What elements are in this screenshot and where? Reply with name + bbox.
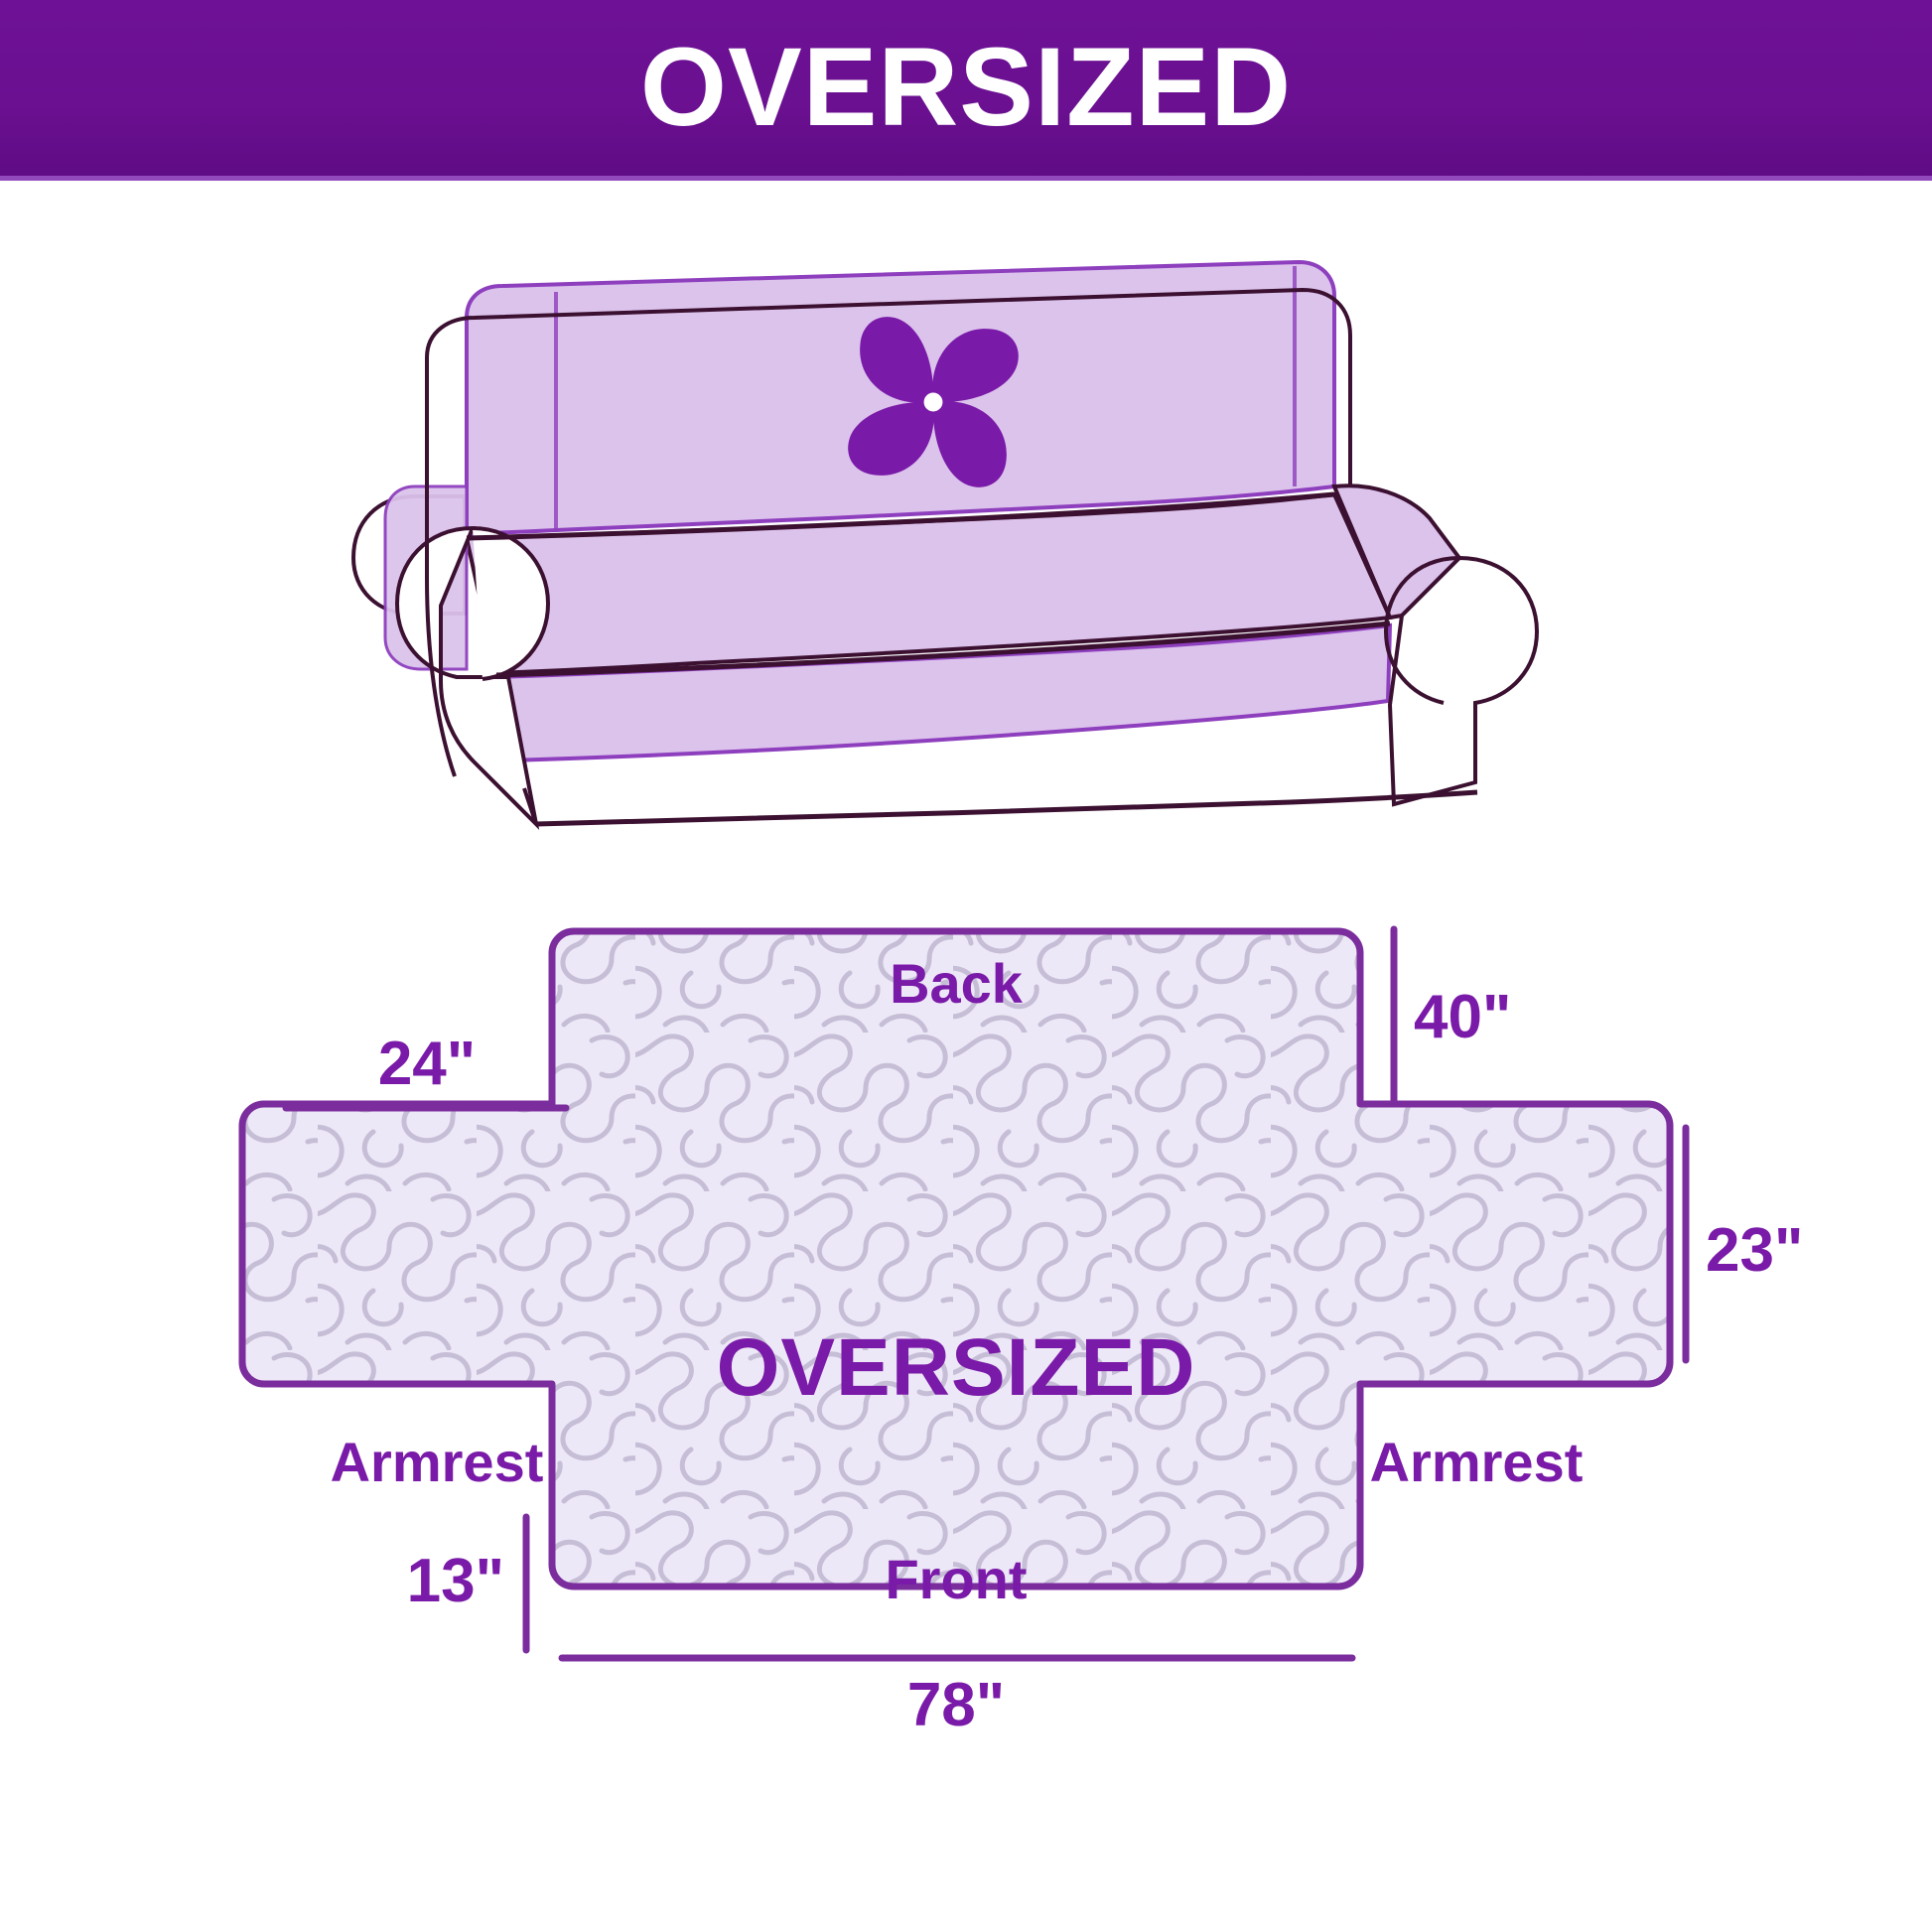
cover-diagram-svg: Back OVERSIZED Armrest Armrest Front 40"…	[0, 874, 1932, 1932]
dimension-total-width: 78"	[562, 1658, 1352, 1739]
sofa-body	[353, 262, 1537, 824]
dimension-back-offset: 24"	[286, 1030, 566, 1108]
region-label-back: Back	[890, 952, 1024, 1015]
center-label-oversized: OVERSIZED	[717, 1322, 1196, 1413]
cover-diagram: Back OVERSIZED Armrest Armrest Front 40"…	[0, 874, 1932, 1932]
header-banner: OVERSIZED	[0, 0, 1932, 181]
dimension-label-40: 40"	[1414, 983, 1511, 1051]
infographic-page: OVERSIZED	[0, 0, 1932, 1932]
dimension-label-23: 23"	[1706, 1216, 1803, 1285]
dimension-front-drop: 13"	[407, 1517, 526, 1650]
region-label-armrest-right: Armrest	[1370, 1431, 1584, 1493]
region-label-armrest-left: Armrest	[331, 1431, 544, 1493]
dimension-label-24: 24"	[378, 1030, 476, 1098]
region-label-front: Front	[885, 1548, 1027, 1610]
dimension-label-78: 78"	[907, 1671, 1005, 1739]
sofa-svg	[0, 189, 1932, 864]
page-title: OVERSIZED	[640, 32, 1292, 143]
dimension-label-13: 13"	[407, 1547, 504, 1615]
dimension-armrest-height: 23"	[1686, 1128, 1803, 1360]
sofa-illustration	[0, 189, 1932, 864]
dimension-back-height: 40"	[1394, 929, 1511, 1104]
header-underline	[0, 176, 1932, 181]
